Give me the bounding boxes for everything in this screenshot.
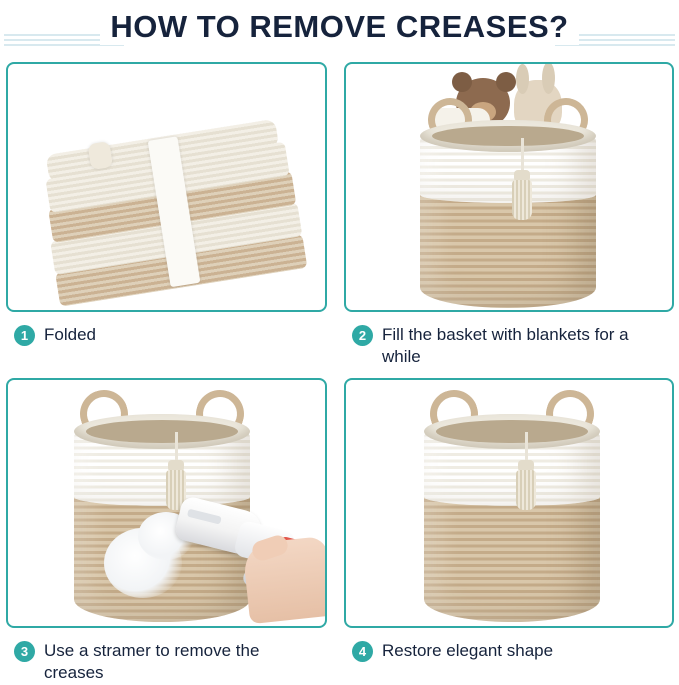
step-3-text: Use a stramer to remove the creases — [44, 640, 314, 685]
steaming-illustration — [8, 380, 325, 626]
step-1-text: Folded — [44, 324, 96, 346]
folded-blanket — [39, 129, 308, 306]
step-1-caption: 1 Folded — [14, 324, 96, 346]
basket-interior — [436, 420, 587, 443]
rope-basket — [420, 120, 596, 308]
tassel-cord — [521, 138, 524, 172]
step-1-badge: 1 — [14, 325, 35, 346]
step-3-badge: 3 — [14, 641, 35, 662]
finished-basket-illustration — [346, 380, 672, 626]
tassel-skirt — [516, 470, 536, 510]
page-title: HOW TO REMOVE CREASES? — [100, 9, 578, 45]
basket-interior — [86, 420, 237, 443]
tassel-cord — [175, 432, 178, 462]
bunny-ear-left — [516, 64, 529, 94]
step-4-caption: 4 Restore elegant shape — [352, 640, 553, 662]
step-4-text: Restore elegant shape — [382, 640, 553, 662]
basket-interior — [432, 126, 583, 147]
step-2-text: Fill the basket with blankets for a whil… — [382, 324, 652, 369]
teddy-bear-ear-right — [496, 72, 516, 92]
header: HOW TO REMOVE CREASES? — [0, 0, 679, 54]
finished-basket-photo — [344, 378, 674, 628]
step-2-badge: 2 — [352, 325, 373, 346]
step-1-cell: 1 Folded — [6, 62, 327, 372]
tassel-skirt — [512, 180, 532, 220]
step-2-caption: 2 Fill the basket with blankets for a wh… — [352, 324, 652, 369]
bunny-ear-right — [542, 62, 555, 94]
step-3-caption: 3 Use a stramer to remove the creases — [14, 640, 314, 685]
folded-blanket-illustration — [8, 64, 325, 310]
rope-basket — [424, 414, 600, 622]
step-4-cell: 4 Restore elegant shape — [344, 378, 674, 680]
basket-with-toys-illustration — [346, 64, 672, 310]
folded-blanket-photo — [6, 62, 327, 312]
step-4-badge: 4 — [352, 641, 373, 662]
step-2-cell: 2 Fill the basket with blankets for a wh… — [344, 62, 674, 372]
infographic-page: HOW TO REMOVE CREASES? 1 Folded — [0, 0, 679, 685]
basket-with-blankets-photo — [344, 62, 674, 312]
steaming-basket-photo — [6, 378, 327, 628]
tassel-cord — [525, 432, 528, 462]
step-3-cell: 3 Use a stramer to remove the creases — [6, 378, 327, 680]
teddy-bear-ear-left — [452, 72, 472, 92]
